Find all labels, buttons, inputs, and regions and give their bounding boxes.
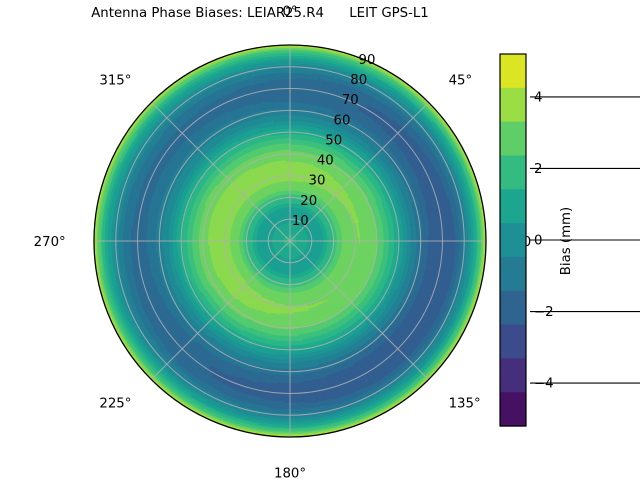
colorbar-swatch	[500, 189, 526, 223]
radial-tick-label-90: 90	[359, 53, 376, 68]
colorbar-swatch	[500, 155, 526, 189]
colorbar-swatch	[500, 122, 526, 156]
colorbar-swatch	[500, 291, 526, 325]
radial-tick-label-40: 40	[317, 154, 334, 169]
colorbar-tick-label-3: 2	[534, 162, 542, 177]
colorbar-tick-label-1: −2	[534, 305, 554, 320]
polar-grid	[94, 45, 486, 437]
radial-tick-label-70: 70	[342, 93, 359, 108]
theta-tick-label-4: 180°	[274, 466, 306, 480]
radial-tick-label-80: 80	[350, 73, 367, 88]
radial-tick-label-50: 50	[325, 133, 342, 148]
colorbar-swatch	[500, 358, 526, 392]
colorbar-swatch	[500, 325, 526, 359]
colorbar-swatches	[500, 54, 526, 427]
colorbar-tick-label-0: −4	[534, 377, 554, 392]
colorbar-swatch	[500, 54, 526, 88]
colorbar-swatch	[500, 88, 526, 122]
radial-tick-label-60: 60	[334, 113, 351, 128]
theta-tick-label-1: 45°	[449, 73, 473, 88]
radial-tick-label-30: 30	[309, 174, 326, 189]
colorbar-tick-label-2: 0	[534, 234, 542, 249]
radial-tick-label-20: 20	[300, 194, 317, 209]
colorbar: −4−2024 Bias (mm)	[500, 54, 640, 427]
colorbar-ticks: −4−2024	[530, 90, 640, 391]
radial-tick-label-10: 10	[292, 214, 309, 229]
colorbar-swatch	[500, 257, 526, 291]
colorbar-tick-label-4: 4	[534, 90, 542, 105]
figure-canvas: Antenna Phase Biases: LEIAR25.R4 LEIT GP…	[0, 0, 640, 480]
theta-tick-label-7: 315°	[99, 73, 131, 88]
colorbar-swatch	[500, 392, 526, 426]
colorbar-swatch	[500, 223, 526, 257]
polar-contour-plot: 0°45°90135°180°225°270°315° 102030405060…	[0, 0, 640, 480]
colorbar-axis-label: Bias (mm)	[559, 207, 574, 275]
theta-tick-label-3: 135°	[449, 397, 481, 412]
page-title: Antenna Phase Biases: LEIAR25.R4 LEIT GP…	[0, 6, 520, 21]
theta-tick-label-6: 270°	[34, 235, 66, 250]
theta-tick-label-5: 225°	[99, 397, 131, 412]
